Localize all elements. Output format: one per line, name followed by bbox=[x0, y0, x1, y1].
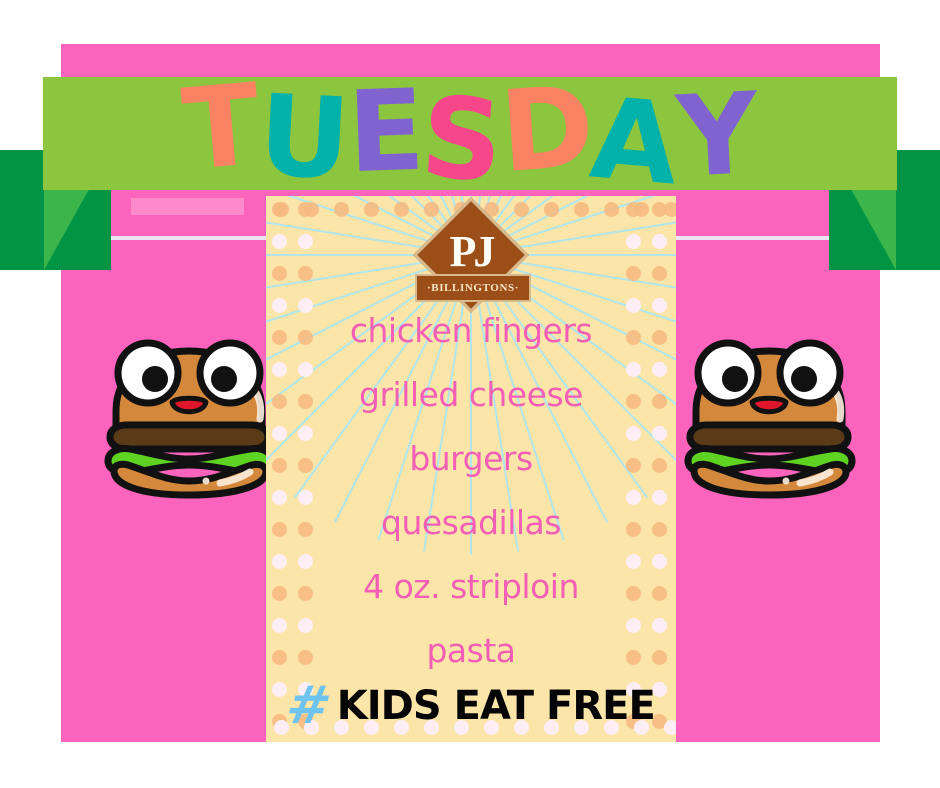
border-dot bbox=[334, 202, 349, 217]
menu-item: grilled cheese bbox=[266, 378, 676, 411]
logo-name-banner: ·BILLINGTONS· bbox=[415, 274, 531, 302]
tagline: # KIDS EAT FREE bbox=[266, 680, 676, 732]
border-dot bbox=[304, 202, 319, 217]
border-dot bbox=[626, 298, 641, 313]
menu-item: pasta bbox=[266, 634, 676, 667]
day-letter-y-6: Y bbox=[674, 78, 759, 194]
hashtag-icon: # bbox=[283, 680, 336, 732]
day-title: TUESDAY bbox=[43, 77, 897, 190]
border-dot bbox=[652, 298, 667, 313]
day-letter-s-3: S bbox=[418, 81, 504, 198]
menu-card: PJ ·BILLINGTONS· chicken fingersgrilled … bbox=[266, 196, 676, 742]
border-dot bbox=[298, 298, 313, 313]
day-letter-d-4: D bbox=[497, 70, 596, 188]
pale-pink-accent-bar bbox=[131, 198, 244, 215]
border-dot bbox=[664, 202, 676, 217]
day-letter-a-5: A bbox=[586, 82, 680, 201]
border-dot bbox=[626, 266, 641, 281]
tagline-text: KIDS EAT FREE bbox=[337, 686, 655, 726]
border-dot bbox=[272, 266, 287, 281]
border-dot bbox=[272, 298, 287, 313]
day-letter-t-0: T bbox=[179, 68, 263, 186]
border-dot bbox=[574, 202, 589, 217]
border-dot bbox=[298, 234, 313, 249]
border-dot bbox=[626, 234, 641, 249]
border-dot bbox=[544, 202, 559, 217]
border-dot bbox=[652, 234, 667, 249]
border-dot bbox=[272, 234, 287, 249]
burger-emoji-right bbox=[680, 333, 858, 503]
logo-name-text: ·BILLINGTONS· bbox=[427, 282, 519, 294]
restaurant-logo: PJ ·BILLINGTONS· bbox=[407, 212, 535, 322]
logo-monogram: PJ bbox=[407, 226, 535, 277]
menu-item-list: chicken fingersgrilled cheeseburgersques… bbox=[266, 314, 676, 698]
border-dot bbox=[364, 202, 379, 217]
menu-item: quesadillas bbox=[266, 506, 676, 539]
border-dot bbox=[604, 202, 619, 217]
border-dot bbox=[298, 266, 313, 281]
menu-item: 4 oz. striploin bbox=[266, 570, 676, 603]
day-letter-u-1: U bbox=[256, 79, 351, 196]
menu-item: burgers bbox=[266, 442, 676, 475]
day-letter-e-2: E bbox=[346, 74, 424, 189]
poster-canvas: TUESDAY bbox=[0, 0, 940, 788]
border-dot bbox=[274, 202, 289, 217]
burger-emoji-left bbox=[100, 333, 278, 503]
menu-item: chicken fingers bbox=[266, 314, 676, 347]
border-dot bbox=[652, 266, 667, 281]
border-dot bbox=[634, 202, 649, 217]
